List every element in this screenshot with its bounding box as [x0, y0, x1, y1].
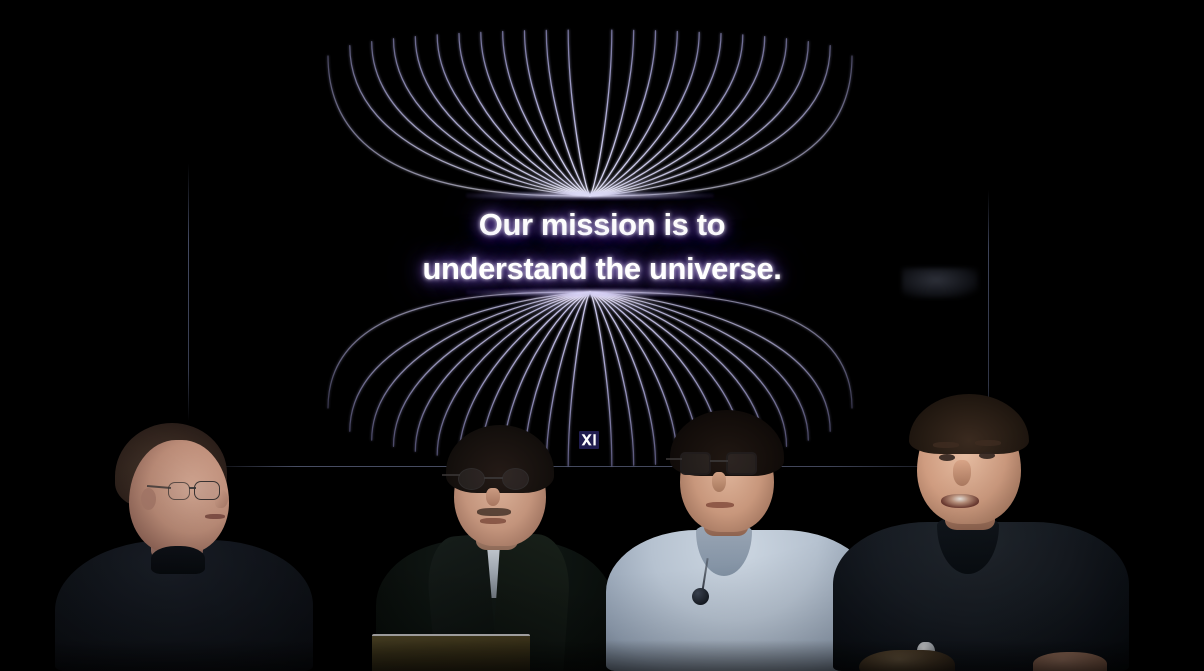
panelist-4-mouth-speaking: [941, 494, 979, 508]
glasses-bridge: [484, 477, 503, 479]
glasses-bridge: [189, 487, 196, 489]
panelist-2-mouth: [480, 518, 506, 524]
glasses-lens-left-icon: [680, 452, 711, 475]
panelist-2-moustache: [477, 508, 511, 516]
glasses-temple: [442, 474, 460, 476]
video-frame: Our mission is to understand the univers…: [0, 0, 1204, 671]
mission-statement: Our mission is to understand the univers…: [0, 203, 1204, 291]
panelist-2: [392, 424, 607, 671]
panelist-3-mouth: [706, 502, 734, 508]
glasses-lens-left-icon: [168, 482, 190, 500]
panelist-3: [612, 412, 862, 671]
panelist-4-arm: [1033, 652, 1107, 671]
panelist-2-nose: [486, 488, 500, 506]
panelist-3-nose: [712, 472, 726, 492]
panelist-4: [845, 398, 1135, 671]
lapel-microphone: [692, 588, 709, 605]
glasses-lens-right-icon: [194, 481, 220, 500]
glasses-lens-left-icon: [458, 468, 485, 490]
panelist-4-brow-left: [933, 442, 959, 448]
panelist-4-brow-right: [975, 440, 1001, 446]
panelist-1: [55, 418, 320, 671]
led-wall-left-edge: [188, 163, 189, 421]
laptop: [372, 634, 530, 671]
panelist-4-eye-left: [939, 454, 955, 461]
panelist-4-hair: [909, 394, 1029, 454]
glasses-bridge: [710, 460, 728, 462]
glasses-temple: [666, 458, 682, 460]
glasses-lens-right-icon: [726, 452, 757, 475]
panelist-4-nose: [953, 460, 971, 486]
held-object: [859, 650, 955, 671]
panelist-4-eye-right: [979, 452, 995, 459]
panelist-1-mouth: [205, 514, 225, 519]
glasses-lens-right-icon: [502, 468, 529, 490]
panelist-1-collar: [151, 546, 205, 574]
panelist-1-ear: [141, 488, 156, 510]
graphic-flare-top: [466, 191, 714, 200]
